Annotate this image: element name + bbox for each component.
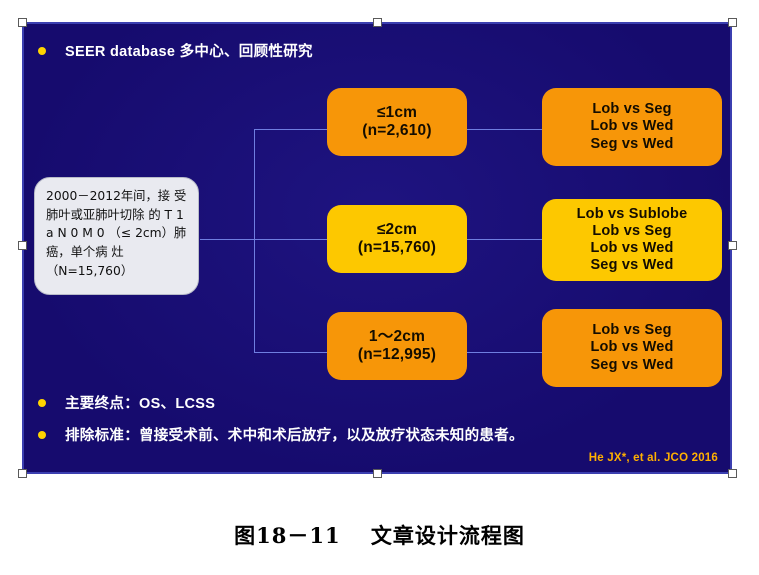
connector-trunk-to-box2 <box>254 239 328 240</box>
citation-text: He JX*, et al. JCO 2016 <box>589 452 718 464</box>
comparison-box-3-line-2: Lob vs Wed <box>590 339 673 356</box>
comparison-box-3-line-1: Lob vs Seg <box>592 322 671 339</box>
size-box-3-label: 1～2cm <box>369 328 425 346</box>
size-box-2-count: (n=15,760) <box>358 239 436 257</box>
selection-handle-bottom-center[interactable] <box>373 469 382 478</box>
selection-handle-top-center[interactable] <box>373 18 382 27</box>
comparison-box-2-line-1: Lob vs Sublobe <box>577 206 688 223</box>
figure-number: 图18－11 <box>234 523 340 548</box>
connector-trunk-to-box3 <box>254 352 328 353</box>
cohort-description-box: 2000－2012年间，接 受肺叶或亚肺叶切除 的 T 1 a N 0 M 0 … <box>34 177 199 295</box>
comparison-box-2-line-3: Lob vs Wed <box>590 240 673 257</box>
comparison-box-1-line-1: Lob vs Seg <box>592 101 671 118</box>
bullet-row-exclusion: 排除标准：曾接受术前、术中和术后放疗，以及放疗状态未知的患者。 <box>38 424 524 445</box>
slide-canvas[interactable]: SEER database 多中心、回顾性研究 2000－2012年间，接 受肺… <box>22 22 732 474</box>
bullet-row-endpoint: 主要终点：OS、LCSS <box>38 392 215 413</box>
connector-trunk-to-box1 <box>254 129 328 130</box>
selection-handle-middle-right[interactable] <box>728 241 737 250</box>
comparison-box-3: Lob vs Seg Lob vs Wed Seg vs Wed <box>542 309 722 387</box>
selection-handle-top-right[interactable] <box>728 18 737 27</box>
connector-vertical-trunk <box>254 129 255 352</box>
connector-box2-to-cmp2 <box>467 239 543 240</box>
bullet-row-title: SEER database 多中心、回顾性研究 <box>38 40 313 61</box>
endpoint-text: 主要终点：OS、LCSS <box>65 392 215 413</box>
comparison-box-2-line-2: Lob vs Seg <box>592 223 671 240</box>
comparison-box-2: Lob vs Sublobe Lob vs Seg Lob vs Wed Seg… <box>542 199 722 281</box>
figure-caption-text: 文章设计流程图 <box>371 523 525 548</box>
slide-title-text: SEER database 多中心、回顾性研究 <box>65 40 313 61</box>
size-box-1-count: (n=2,610) <box>362 122 431 140</box>
selection-handle-top-left[interactable] <box>18 18 27 27</box>
size-box-2-label: ≤2cm <box>377 221 417 239</box>
selection-handle-middle-left[interactable] <box>18 241 27 250</box>
connector-box3-to-cmp3 <box>467 352 543 353</box>
size-box-3-count: (n=12,995) <box>358 346 436 364</box>
desc-line-1: 2000－2012年间，接 <box>46 189 170 203</box>
connector-box1-to-cmp1 <box>467 129 543 130</box>
selection-handle-bottom-right[interactable] <box>728 469 737 478</box>
bullet-dot-icon <box>38 47 46 55</box>
comparison-box-1-line-3: Seg vs Wed <box>590 136 673 153</box>
comparison-box-3-line-3: Seg vs Wed <box>590 357 673 374</box>
size-box-3: 1～2cm (n=12,995) <box>327 312 467 380</box>
comparison-box-1-line-2: Lob vs Wed <box>590 118 673 135</box>
size-box-2: ≤2cm (n=15,760) <box>327 205 467 273</box>
connector-left-to-trunk <box>200 239 254 240</box>
comparison-box-2-line-4: Seg vs Wed <box>590 257 673 274</box>
bullet-dot-icon <box>38 431 46 439</box>
selection-handle-bottom-left[interactable] <box>18 469 27 478</box>
figure-caption: 图18－11 文章设计流程图 <box>0 520 759 550</box>
exclusion-text: 排除标准：曾接受术前、术中和术后放疗，以及放疗状态未知的患者。 <box>65 424 524 445</box>
bullet-dot-icon <box>38 399 46 407</box>
comparison-box-1: Lob vs Seg Lob vs Wed Seg vs Wed <box>542 88 722 166</box>
size-box-1-label: ≤1cm <box>377 104 417 122</box>
size-box-1: ≤1cm (n=2,610) <box>327 88 467 156</box>
